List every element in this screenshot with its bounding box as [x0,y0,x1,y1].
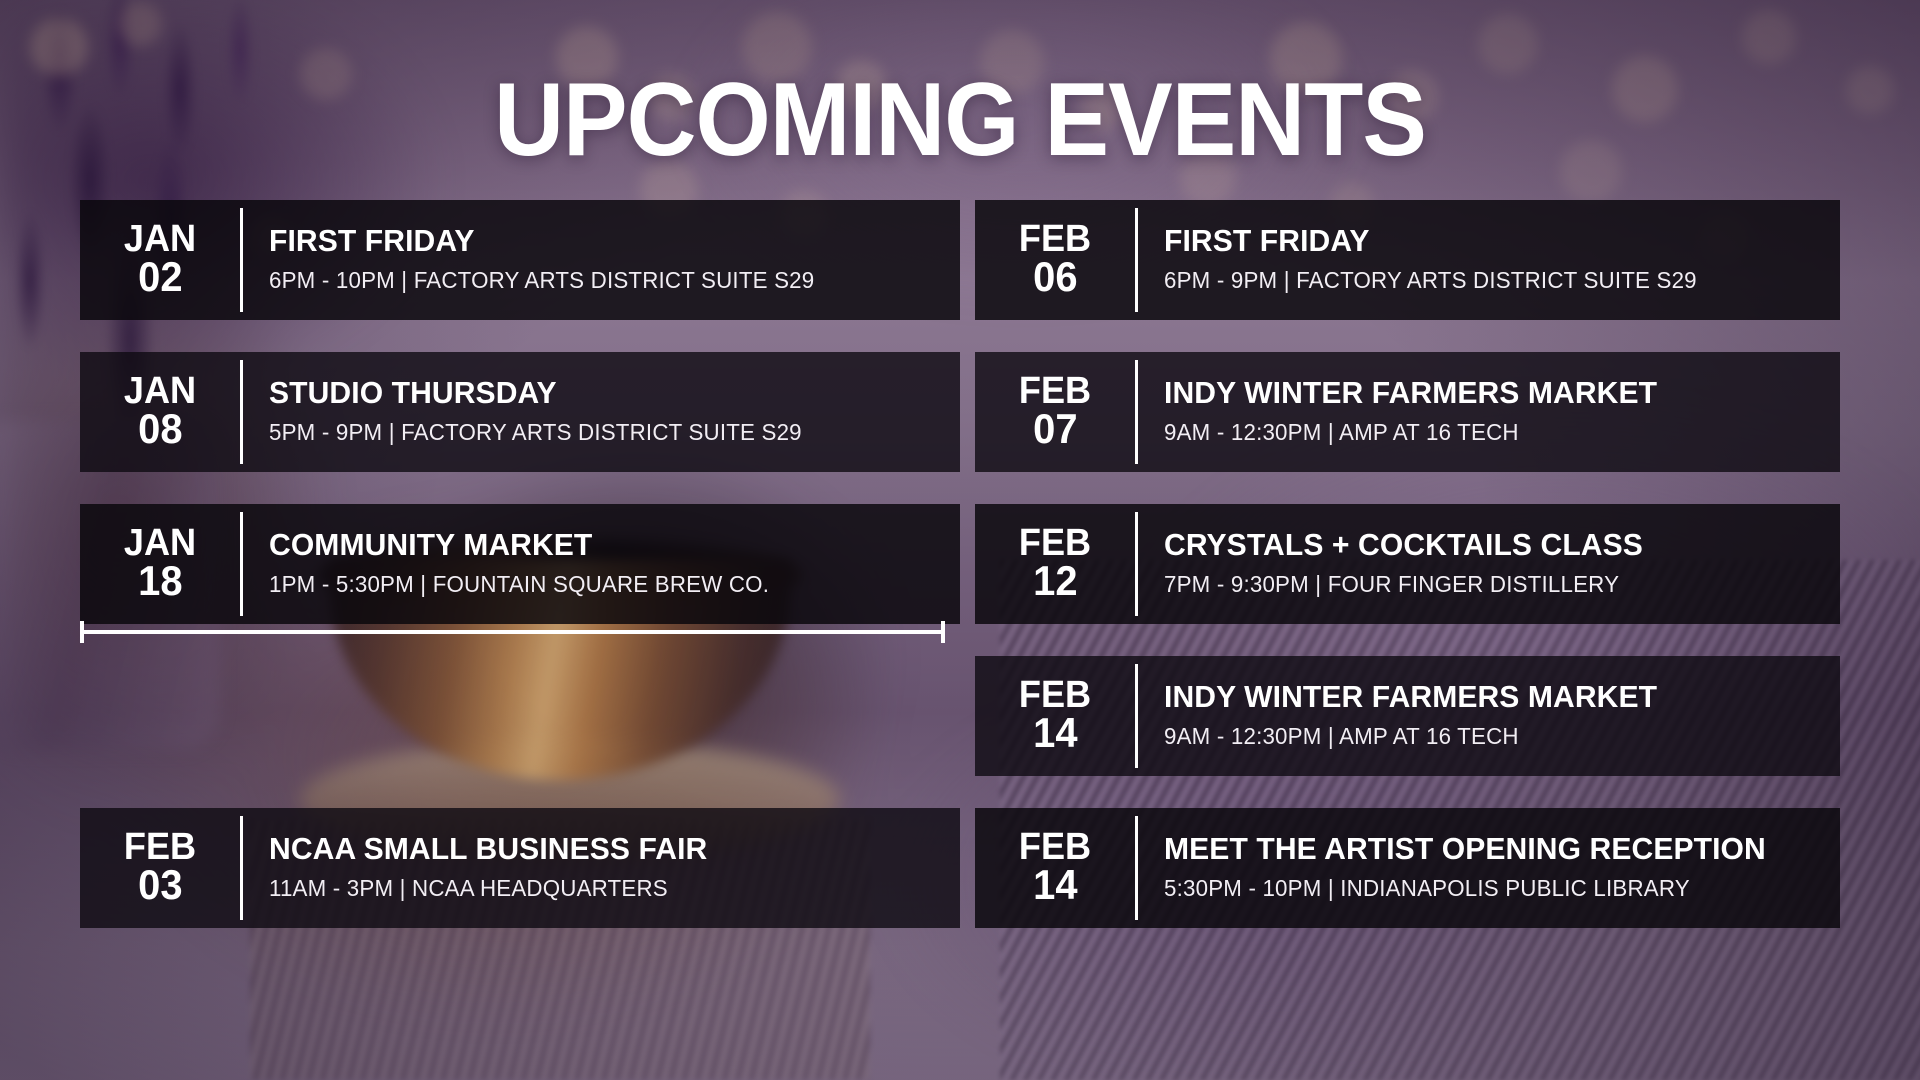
event-details: FIRST FRIDAY6PM - 10PM | FACTORY ARTS DI… [243,200,960,320]
event-card[interactable]: JAN08STUDIO THURSDAY5PM - 9PM | FACTORY … [80,352,960,472]
event-day: 08 [138,409,182,449]
event-card[interactable]: FEB14INDY WINTER FARMERS MARKET9AM - 12:… [975,656,1840,776]
event-card[interactable]: FEB06FIRST FRIDAY6PM - 9PM | FACTORY ART… [975,200,1840,320]
event-date-block: FEB03 [80,808,240,928]
event-details: INDY WINTER FARMERS MARKET9AM - 12:30PM … [1138,656,1840,776]
event-month: FEB [1019,221,1091,257]
content-root: UPCOMING EVENTS JAN02FIRST FRIDAY6PM - 1… [0,0,1920,1080]
event-time-location: 9AM - 12:30PM | AMP AT 16 TECH [1164,722,1806,752]
event-day: 07 [1033,409,1077,449]
event-date-block: FEB12 [975,504,1135,624]
event-details: INDY WINTER FARMERS MARKET9AM - 12:30PM … [1138,352,1840,472]
event-time-location: 7PM - 9:30PM | FOUR FINGER DISTILLERY [1164,570,1806,600]
event-month: FEB [1019,677,1091,713]
event-month: JAN [124,525,196,561]
event-month: JAN [124,221,196,257]
event-day: 18 [138,561,182,601]
event-day: 06 [1033,257,1077,297]
event-details: FIRST FRIDAY6PM - 9PM | FACTORY ARTS DIS… [1138,200,1840,320]
event-date-block: JAN02 [80,200,240,320]
event-details: MEET THE ARTIST OPENING RECEPTION5:30PM … [1138,808,1840,928]
event-month: FEB [124,829,196,865]
event-date-block: JAN08 [80,352,240,472]
event-date-block: FEB14 [975,808,1135,928]
event-title: MEET THE ARTIST OPENING RECEPTION [1164,832,1806,867]
event-day: 03 [138,865,182,905]
event-time-location: 5PM - 9PM | FACTORY ARTS DISTRICT SUITE … [269,418,926,448]
event-title: FIRST FRIDAY [269,224,926,259]
event-time-location: 6PM - 10PM | FACTORY ARTS DISTRICT SUITE… [269,266,926,296]
event-month: FEB [1019,373,1091,409]
event-day: 14 [1033,865,1077,905]
event-date-block: FEB14 [975,656,1135,776]
event-details: CRYSTALS + COCKTAILS CLASS7PM - 9:30PM |… [1138,504,1840,624]
page-title: UPCOMING EVENTS [67,68,1853,172]
event-title: NCAA SMALL BUSINESS FAIR [269,832,926,867]
event-title: COMMUNITY MARKET [269,528,926,563]
event-day: 02 [138,257,182,297]
event-card[interactable]: FEB14MEET THE ARTIST OPENING RECEPTION5:… [975,808,1840,928]
event-day: 14 [1033,713,1077,753]
decorative-horizontal-rule [80,630,945,634]
event-month: FEB [1019,525,1091,561]
event-card[interactable]: FEB03NCAA SMALL BUSINESS FAIR11AM - 3PM … [80,808,960,928]
event-date-block: FEB06 [975,200,1135,320]
event-title: INDY WINTER FARMERS MARKET [1164,376,1806,411]
event-date-block: FEB07 [975,352,1135,472]
event-time-location: 6PM - 9PM | FACTORY ARTS DISTRICT SUITE … [1164,266,1806,296]
event-time-location: 5:30PM - 10PM | INDIANAPOLIS PUBLIC LIBR… [1164,874,1806,904]
event-time-location: 1PM - 5:30PM | FOUNTAIN SQUARE BREW CO. [269,570,926,600]
event-card[interactable]: JAN02FIRST FRIDAY6PM - 10PM | FACTORY AR… [80,200,960,320]
event-title: FIRST FRIDAY [1164,224,1806,259]
event-details: COMMUNITY MARKET1PM - 5:30PM | FOUNTAIN … [243,504,960,624]
event-day: 12 [1033,561,1077,601]
events-grid: JAN02FIRST FRIDAY6PM - 10PM | FACTORY AR… [0,200,1920,1020]
event-card[interactable]: FEB07INDY WINTER FARMERS MARKET9AM - 12:… [975,352,1840,472]
event-time-location: 9AM - 12:30PM | AMP AT 16 TECH [1164,418,1806,448]
event-details: NCAA SMALL BUSINESS FAIR11AM - 3PM | NCA… [243,808,960,928]
event-month: FEB [1019,829,1091,865]
event-title: CRYSTALS + COCKTAILS CLASS [1164,528,1806,563]
slide-canvas: UPCOMING EVENTS JAN02FIRST FRIDAY6PM - 1… [0,0,1920,1080]
event-title: INDY WINTER FARMERS MARKET [1164,680,1806,715]
event-month: JAN [124,373,196,409]
event-date-block: JAN18 [80,504,240,624]
event-time-location: 11AM - 3PM | NCAA HEADQUARTERS [269,874,926,904]
event-title: STUDIO THURSDAY [269,376,926,411]
event-card[interactable]: FEB12CRYSTALS + COCKTAILS CLASS7PM - 9:3… [975,504,1840,624]
event-details: STUDIO THURSDAY5PM - 9PM | FACTORY ARTS … [243,352,960,472]
event-card[interactable]: JAN18COMMUNITY MARKET1PM - 5:30PM | FOUN… [80,504,960,624]
